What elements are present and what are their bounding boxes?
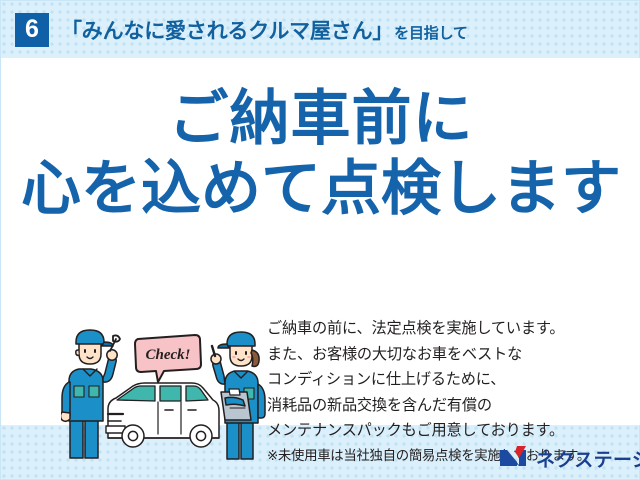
female-mechanic [211,332,265,459]
male-mechanic [61,330,120,458]
header-title: 「みんなに愛されるクルマ屋さん」 を目指して [61,15,468,45]
header-bar: 6 「みんなに愛されるクルマ屋さん」 を目指して [1,1,640,58]
van-illustration [106,383,219,447]
advertisement-card: 6 「みんなに愛されるクルマ屋さん」 を目指して ご納車前に 心を込めて点検しま… [0,0,640,480]
body-line-2: また、お客様の大切なお車をベストな [267,342,623,368]
body-line-3: コンディションに仕上げるために、 [267,367,623,393]
body-line-4: 消耗品の新品交換を含んだ有償の [267,393,623,419]
section-number-badge: 6 [15,13,49,47]
headline-line-2: 心を込めて点検します [1,158,640,220]
brand-name: ネクステージ [536,445,640,472]
brand-logo: ネクステージ [499,445,640,471]
headline: ご納車前に 心を込めて点検します [1,88,640,221]
nextage-n-icon [499,445,529,472]
mechanics-illustration: Check! [61,326,266,461]
header-title-main: 「みんなに愛されるクルマ屋さん」 [61,15,393,45]
header-title-suffix: を目指して [394,22,468,43]
check-bubble-label: Check! [146,347,191,363]
body-line-1: ご納車の前に、法定点検を実施しています。 [267,316,623,342]
body-line-5: メンテナンスパックもご用意しております。 [267,418,623,444]
content-panel: ご納車前に 心を込めて点検します ご納車の前に、法定点検を実施しています。 また… [1,58,640,425]
headline-line-1: ご納車前に [1,88,640,150]
